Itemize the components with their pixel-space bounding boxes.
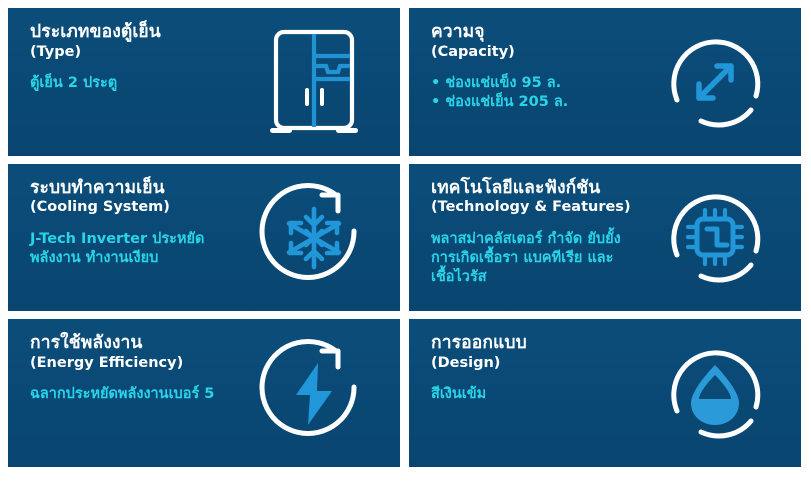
spec-card-technology-features: เทคโนโลยีและฟังก์ชัน (Technology & Featu… <box>409 164 801 312</box>
refrigerator-icon <box>244 10 384 156</box>
spec-card-design: การออกแบบ (Design) สีเงินเข้ม <box>409 319 801 467</box>
card-title-en: (Cooling System) <box>30 199 245 216</box>
card-text-block: เทคโนโลยีและฟังก์ชัน (Technology & Featu… <box>409 164 656 298</box>
card-text-block: การใช้พลังงาน (Energy Efficiency) ฉลากปร… <box>8 319 255 414</box>
card-value-line: J-Tech Inverter ประหยัด <box>30 230 245 249</box>
card-value: ตู้เย็น 2 ประตู <box>30 74 245 93</box>
snowflake-icon <box>244 164 384 312</box>
card-value-line: การเกิดเชื้อรา แบคทีเรีย และ <box>431 249 646 268</box>
card-title-th: ประเภทของตู้เย็น <box>30 22 245 43</box>
card-value-line: พลังงาน ทำงานเงียบ <box>30 249 245 268</box>
card-title-th: การใช้พลังงาน <box>30 333 245 354</box>
card-title-en: (Technology & Features) <box>431 199 646 216</box>
microchip-icon <box>645 164 785 312</box>
card-title-th: ความจุ <box>431 22 646 43</box>
card-value-line: สีเงินเข้ม <box>431 385 646 404</box>
water-drop-icon <box>645 319 785 467</box>
card-value-line: • ช่องแช่เย็น 205 ล. <box>431 93 646 112</box>
card-text-block: ความจุ (Capacity) • ช่องแช่แข็ง 95 ล. • … <box>409 8 656 123</box>
spec-card-capacity: ความจุ (Capacity) • ช่องแช่แข็ง 95 ล. • … <box>409 8 801 156</box>
card-text-block: ระบบทำความเย็น (Cooling System) J-Tech I… <box>8 164 255 279</box>
card-value: • ช่องแช่แข็ง 95 ล. • ช่องแช่เย็น 205 ล. <box>431 74 646 113</box>
lightning-bolt-icon <box>244 319 384 467</box>
card-value: ฉลากประหยัดพลังงานเบอร์ 5 <box>30 385 245 404</box>
card-value: สีเงินเข้ม <box>431 385 646 404</box>
card-title-en: (Capacity) <box>431 44 646 61</box>
card-title-en: (Design) <box>431 355 646 372</box>
card-value-line: พลาสม่าคลัสเตอร์ กำจัด ยับยั้ง <box>431 230 646 249</box>
expand-arrows-icon <box>645 8 785 156</box>
card-title-en: (Type) <box>30 44 245 61</box>
card-value-line: • ช่องแช่แข็ง 95 ล. <box>431 74 646 93</box>
card-value-line: เชื้อไวรัส <box>431 268 646 287</box>
card-value: J-Tech Inverter ประหยัด พลังงาน ทำงานเงี… <box>30 230 245 269</box>
card-value: พลาสม่าคลัสเตอร์ กำจัด ยับยั้ง การเกิดเช… <box>431 230 646 288</box>
card-title-th: การออกแบบ <box>431 333 646 354</box>
card-title-en: (Energy Efficiency) <box>30 355 245 372</box>
spec-card-energy-efficiency: การใช้พลังงาน (Energy Efficiency) ฉลากปร… <box>8 319 400 467</box>
card-value-line: ฉลากประหยัดพลังงานเบอร์ 5 <box>30 385 245 404</box>
card-text-block: ประเภทของตู้เย็น (Type) ตู้เย็น 2 ประตู <box>8 8 255 103</box>
spec-card-grid: ประเภทของตู้เย็น (Type) ตู้เย็น 2 ประตู <box>8 8 801 467</box>
card-value-line: ตู้เย็น 2 ประตู <box>30 74 245 93</box>
card-title-th: เทคโนโลยีและฟังก์ชัน <box>431 178 646 199</box>
spec-card-type: ประเภทของตู้เย็น (Type) ตู้เย็น 2 ประตู <box>8 8 400 156</box>
spec-card-cooling-system: ระบบทำความเย็น (Cooling System) J-Tech I… <box>8 164 400 312</box>
card-title-th: ระบบทำความเย็น <box>30 178 245 199</box>
card-text-block: การออกแบบ (Design) สีเงินเข้ม <box>409 319 656 414</box>
